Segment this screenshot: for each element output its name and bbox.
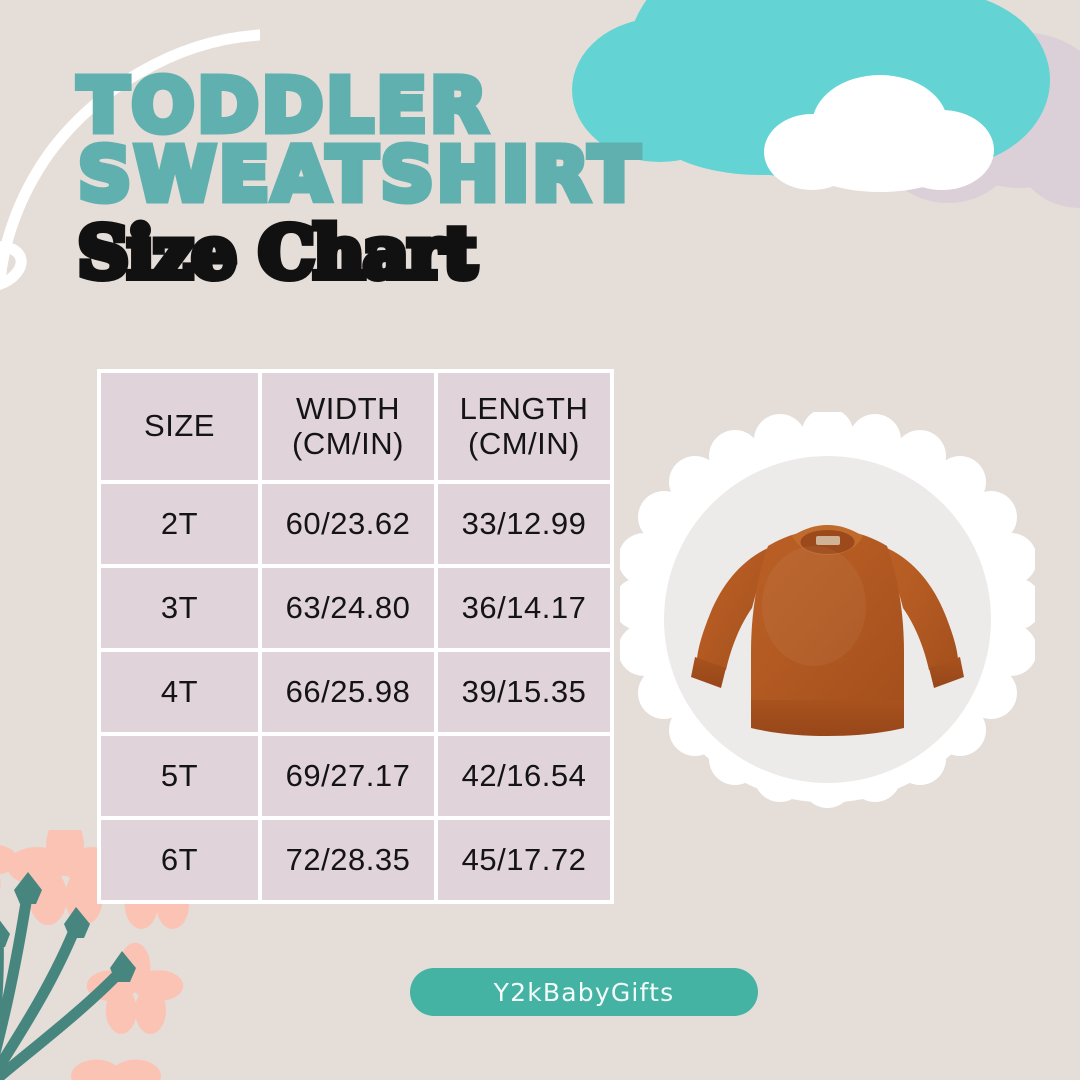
page-subtitle: Size Chart	[78, 218, 778, 288]
page-title: TODDLER SWEATSHIRT Size Chart	[78, 72, 778, 288]
cell-width: 66/25.98	[262, 652, 434, 732]
column-header-width-unit: (CM/IN)	[292, 426, 404, 461]
product-photo	[664, 456, 991, 783]
cloud-white-icon	[764, 75, 994, 192]
brand-badge[interactable]: Y2kBabyGifts	[410, 968, 758, 1016]
size-chart-canvas: TODDLER SWEATSHIRT Size Chart SIZE WIDTH…	[0, 0, 1080, 1080]
cell-width: 63/24.80	[262, 568, 434, 648]
cell-size: 4T	[101, 652, 258, 732]
column-header-size-label: SIZE	[144, 408, 215, 443]
column-header-length-unit: (CM/IN)	[468, 426, 580, 461]
brand-name-label: Y2kBabyGifts	[494, 978, 675, 1007]
cell-length: 39/15.35	[438, 652, 610, 732]
flower-stems-icon	[0, 890, 122, 1080]
size-chart-table: SIZE WIDTH (CM/IN) LENGTH (CM/IN) 2T 60/…	[97, 369, 614, 904]
column-header-size: SIZE	[101, 373, 258, 480]
table-row: 2T 60/23.62 33/12.99	[101, 484, 610, 564]
column-header-width-label: WIDTH	[296, 391, 400, 426]
cell-length: 45/17.72	[438, 820, 610, 900]
column-header-length: LENGTH (CM/IN)	[438, 373, 610, 480]
cell-length: 42/16.54	[438, 736, 610, 816]
sweatshirt-illustration-icon	[664, 456, 991, 783]
title-line-1: TODDLER	[78, 72, 778, 141]
cell-width: 72/28.35	[262, 820, 434, 900]
product-photo-frame	[620, 412, 1035, 827]
cell-width: 69/27.17	[262, 736, 434, 816]
table-row: 4T 66/25.98 39/15.35	[101, 652, 610, 732]
loop-icon	[0, 240, 26, 295]
cell-width: 60/23.62	[262, 484, 434, 564]
cell-length: 33/12.99	[438, 484, 610, 564]
cell-length: 36/14.17	[438, 568, 610, 648]
cell-size: 5T	[101, 736, 258, 816]
cloud-mauve-icon	[880, 32, 1080, 208]
table-header-row: SIZE WIDTH (CM/IN) LENGTH (CM/IN)	[101, 373, 610, 480]
cell-size: 3T	[101, 568, 258, 648]
column-header-length-label: LENGTH	[460, 391, 589, 426]
table-row: 3T 63/24.80 36/14.17	[101, 568, 610, 648]
title-line-2: SWEATSHIRT	[78, 141, 778, 210]
cell-size: 2T	[101, 484, 258, 564]
table-row: 6T 72/28.35 45/17.72	[101, 820, 610, 900]
cell-size: 6T	[101, 820, 258, 900]
column-header-width: WIDTH (CM/IN)	[262, 373, 434, 480]
table-row: 5T 69/27.17 42/16.54	[101, 736, 610, 816]
